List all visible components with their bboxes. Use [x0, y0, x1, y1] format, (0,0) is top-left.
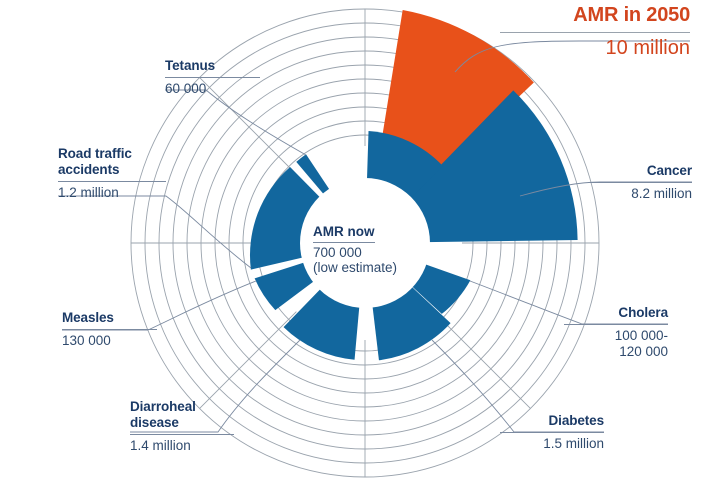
callout-tetanus-rule [165, 77, 260, 78]
callout-cholera-rule [564, 324, 668, 325]
callout-diabetes: Diabetes 1.5 million [500, 413, 604, 452]
callout-measles-value: 130 000 [62, 333, 157, 349]
center-title: AMR now [313, 224, 433, 239]
callout-measles-name: Measles [62, 310, 157, 326]
callout-cancer-rule [588, 182, 692, 183]
headline-amr-2050: AMR in 2050 10 million [500, 4, 690, 60]
callout-tetanus-value: 60 000 [165, 81, 260, 97]
center-label-amr-now: AMR now 700 000 (low estimate) [313, 224, 433, 275]
callout-measles-rule [62, 329, 157, 330]
callout-cancer-value: 8.2 million [588, 186, 692, 202]
callout-diarroheal-disease-name: Diarroheal disease [130, 399, 234, 431]
callout-diabetes-value: 1.5 million [500, 436, 604, 452]
headline-rule [500, 32, 690, 33]
callout-tetanus: Tetanus 60 000 [165, 58, 260, 97]
callout-diabetes-rule [500, 432, 604, 433]
center-rule [313, 242, 375, 243]
center-value: 700 000 [313, 245, 433, 260]
leader-line-road-traffic [58, 196, 251, 268]
callout-tetanus-name: Tetanus [165, 58, 260, 74]
amr-infographic: AMR in 2050 10 million AMR now 700 000 (… [0, 0, 723, 485]
callout-road-traffic-accidents-rule [58, 181, 166, 182]
callout-cancer: Cancer 8.2 million [588, 163, 692, 202]
callout-road-traffic-accidents: Road traffic accidents 1.2 million [58, 146, 166, 201]
callout-cancer-name: Cancer [588, 163, 692, 179]
callout-cholera: Cholera 100 000- 120 000 [564, 305, 668, 360]
callout-road-traffic-accidents-value: 1.2 million [58, 185, 166, 201]
callout-measles: Measles 130 000 [62, 310, 157, 349]
callout-diarroheal-disease-rule [130, 434, 234, 435]
headline-value: 10 million [500, 37, 690, 60]
callout-cholera-value: 100 000- 120 000 [564, 328, 668, 360]
center-note: (low estimate) [313, 260, 433, 275]
callout-cholera-name: Cholera [564, 305, 668, 321]
callout-diabetes-name: Diabetes [500, 413, 604, 429]
callout-diarroheal-disease: Diarroheal disease 1.4 million [130, 399, 234, 454]
callout-diarroheal-disease-value: 1.4 million [130, 438, 234, 454]
headline-title: AMR in 2050 [500, 4, 690, 27]
callout-road-traffic-accidents-name: Road traffic accidents [58, 146, 166, 178]
